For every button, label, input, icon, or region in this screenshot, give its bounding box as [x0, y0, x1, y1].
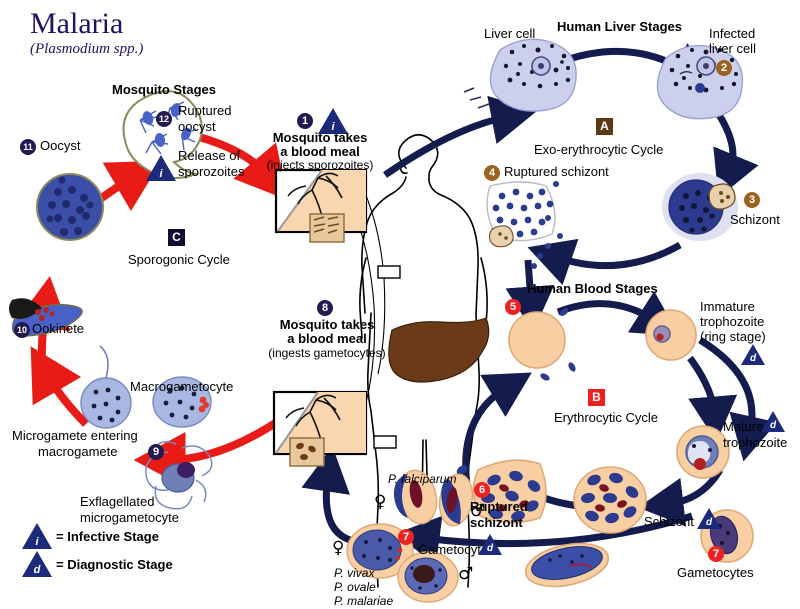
title-main: Malaria: [30, 8, 143, 40]
step-1-line3: (injects sporozoites): [252, 158, 388, 172]
cycle-c-label: Sporogonic Cycle: [128, 253, 230, 267]
mosquito-bite-panel-1: [276, 170, 366, 242]
mature-troph-line2: trophozoite: [723, 436, 787, 450]
step-9-badge: 9: [148, 444, 164, 460]
step-9-line1: Microgamete entering: [12, 429, 138, 443]
diagnostic-marker-icon-schizont: d: [697, 508, 721, 529]
step-10-badge: 10: [14, 322, 30, 338]
macrogametocyte-label: Macrogametocyte: [130, 380, 233, 394]
diagnostic-marker-icon-mature: d: [761, 411, 785, 432]
step-8-badge: 8: [317, 300, 333, 316]
ring-stage-cell: [646, 310, 696, 360]
step-7-right-badge: 7: [708, 546, 724, 562]
step-2-badge: 2: [716, 60, 732, 76]
step-8-line1: Mosquito takes: [262, 318, 392, 332]
female-symbol-falciparum: ♀: [374, 494, 386, 511]
step-12-badge: 12: [156, 111, 172, 127]
step-1-badge: 1: [297, 113, 313, 129]
step-6-badge: 6: [474, 482, 490, 498]
mature-troph-line1: Mature: [723, 420, 763, 434]
diagnostic-marker-letter: d: [22, 565, 52, 576]
diagnostic-marker-letter: d: [697, 517, 721, 528]
oocyst-cell: [37, 174, 103, 240]
step-4-badge: 4: [484, 165, 500, 181]
liver-schizont-cell: [662, 173, 738, 241]
immature-troph-line2: trophozoite: [700, 315, 764, 329]
step-8-line2: a blood meal: [262, 332, 392, 346]
infective-marker-letter: i: [22, 537, 52, 548]
cycle-b-label: Erythrocytic Cycle: [554, 411, 658, 425]
step-1-line1: Mosquito takes: [258, 131, 382, 145]
step-9-line2: macrogamete: [38, 445, 117, 459]
step-7-left-badge: 7: [398, 529, 414, 545]
immature-troph-line3: (ring stage): [700, 330, 766, 344]
cycle-b-badge: B: [588, 389, 605, 406]
p-malariae-label: P. malariae: [334, 594, 393, 608]
microgamete-cell: [81, 346, 131, 428]
legend-diagnostic-icon: d: [22, 551, 52, 577]
section-mosquito-stages: Mosquito Stages: [112, 83, 216, 97]
diagnostic-marker-letter: d: [741, 353, 765, 364]
step-5-badge: 5: [505, 299, 521, 315]
step-11-badge: 11: [20, 139, 36, 155]
cycle-a-label: Exo-erythrocytic Cycle: [534, 143, 663, 157]
cycle-c-badge: C: [168, 229, 185, 246]
diagnostic-marker-letter: d: [761, 420, 785, 431]
liver-ruptured-schizont-cell: [487, 181, 563, 269]
diagnostic-marker-letter: d: [478, 543, 502, 554]
diagnostic-marker-icon-ring: d: [741, 344, 765, 365]
section-human-liver-stages: Human Liver Stages: [557, 20, 682, 34]
blood-schizont-label: Schizont: [644, 515, 694, 529]
vivax-male-cell: [398, 552, 458, 602]
male-symbol-vivax: ♂: [458, 566, 473, 583]
legend-infective-icon: i: [22, 523, 52, 549]
step-12-line3: Release of: [178, 149, 240, 163]
step-4-label: Ruptured schizont: [504, 165, 609, 179]
p-vivax-label: P. vivax: [334, 566, 374, 580]
blood-schizont-cell: [574, 467, 646, 533]
step-12-line1: Ruptured: [178, 104, 231, 118]
step-3-badge: 3: [744, 192, 760, 208]
step-12-line2: oocyst: [178, 120, 216, 134]
exflagellated-line2: microgametocyte: [80, 511, 179, 525]
step-10-label: Ookinete: [32, 322, 84, 336]
infected-liver-cell: [657, 46, 742, 119]
section-human-blood-stages: Human Blood Stages: [527, 282, 658, 296]
male-symbol-falciparum: ♂: [470, 503, 485, 520]
exflagellated-line1: Exflagellated: [80, 495, 154, 509]
blood-rbc-5: [509, 306, 577, 382]
female-symbol-vivax: ♀: [332, 540, 344, 557]
legend-diagnostic-text: = Diagnostic Stage: [56, 558, 173, 572]
step-1-line2: a blood meal: [258, 145, 382, 159]
page-title: Malaria (Plasmodium spp.): [30, 8, 143, 58]
step-7-right-label: Gametocytes: [677, 566, 754, 580]
p-ovale-label: P. ovale: [334, 580, 376, 594]
step-8-line3: (ingests gametocytes): [254, 346, 400, 360]
step-12-line4: sporozoites: [178, 165, 244, 179]
step-2-line2: liver cell: [709, 42, 756, 56]
mosquito-bite-panel-8: [274, 392, 366, 466]
infective-marker-letter: i: [146, 169, 176, 180]
legend-infective-text: = Infective Stage: [56, 530, 159, 544]
immature-troph-line1: Immature: [700, 300, 755, 314]
p-falciparum-label: P. falciparum: [388, 472, 456, 486]
cycle-a-badge: A: [596, 118, 613, 135]
malaria-lifecycle-diagram: Malaria (Plasmodium spp.) Mosquito Stage…: [0, 0, 800, 609]
infective-marker-icon-12: i: [146, 155, 176, 181]
liver-cell-label: Liver cell: [484, 27, 535, 41]
step-11-label: Oocyst: [40, 139, 80, 153]
liver-cell: [464, 39, 576, 111]
liver-organ: [389, 318, 489, 382]
mature-trophozoite-cell: [677, 426, 729, 478]
title-species: (Plasmodium spp.): [30, 40, 143, 58]
step-2-line1: Infected: [709, 27, 755, 41]
step-3-label: Schizont: [730, 213, 780, 227]
diagnostic-marker-icon-gametocytes: d: [478, 534, 502, 555]
